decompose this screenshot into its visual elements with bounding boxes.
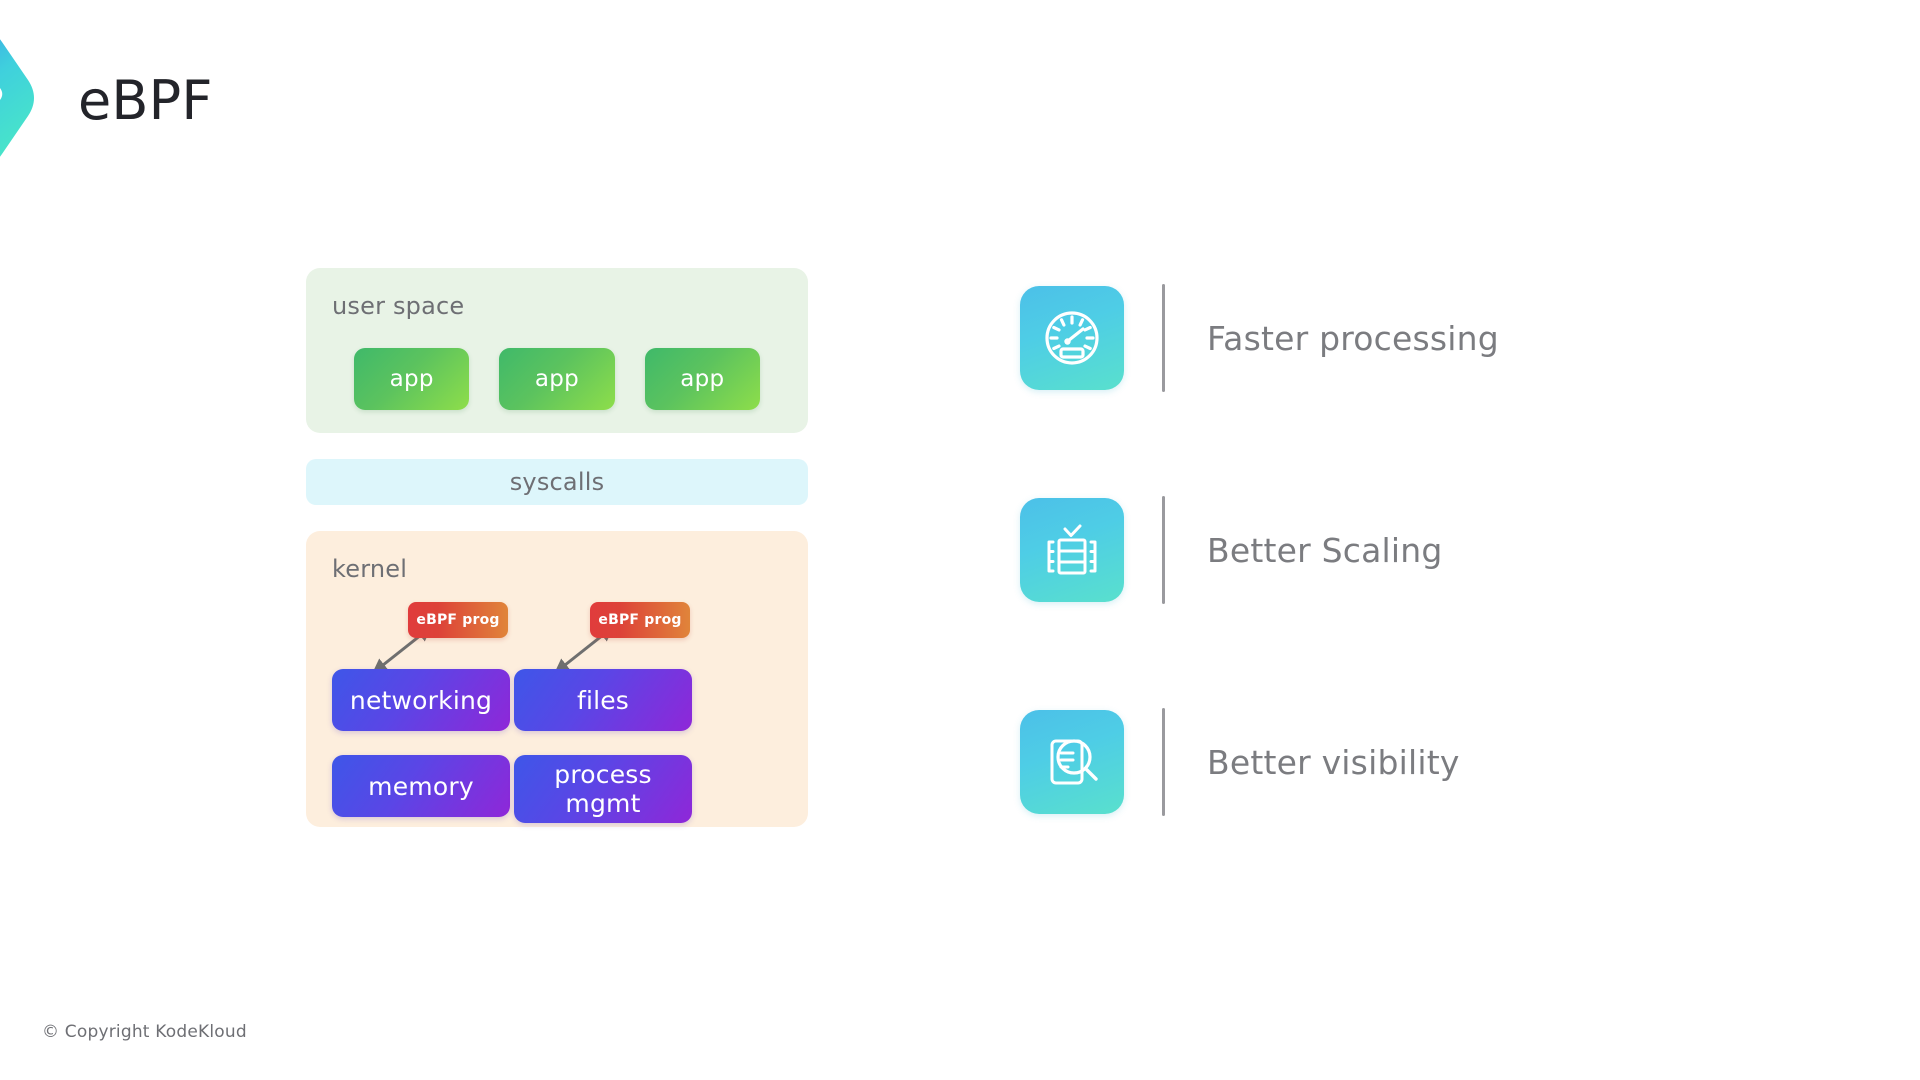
syscalls-bar: syscalls (306, 459, 808, 505)
chevron-logo-icon (0, 18, 62, 178)
app-box[interactable]: app (499, 348, 614, 410)
benefit-item-better-scaling[interactable]: Better Scaling (1020, 496, 1720, 604)
footer-copyright: © Copyright KodeKloud (42, 1022, 247, 1042)
benefit-item-faster-processing[interactable]: Faster processing (1020, 284, 1720, 392)
ebpf-prog-badge-networking[interactable]: eBPF prog (408, 602, 508, 638)
benefit-label-better-visibility: Better visibility (1207, 746, 1460, 779)
benefit-label-faster-processing: Faster processing (1207, 322, 1499, 355)
benefit-divider (1162, 708, 1165, 816)
kernel-box-process-mgmt-line1: process (554, 760, 651, 789)
user-space-app-list: app app app (332, 348, 782, 410)
ebpf-prog-badge-files[interactable]: eBPF prog (590, 602, 690, 638)
benefit-item-better-visibility[interactable]: Better visibility (1020, 708, 1720, 816)
speedometer-icon (1020, 286, 1124, 390)
benefit-divider (1162, 284, 1165, 392)
kernel-label: kernel (332, 557, 782, 581)
benefits-list: Faster processing Better Scalin (1020, 284, 1720, 816)
kernel-box-memory[interactable]: memory (332, 755, 510, 817)
kernel-box-files[interactable]: files (514, 669, 692, 731)
app-box[interactable]: app (645, 348, 760, 410)
benefit-label-better-scaling: Better Scaling (1207, 534, 1443, 567)
kernel-box-process-mgmt-line2: mgmt (565, 789, 640, 818)
user-space-zone: user space app app app (306, 268, 808, 433)
user-space-label: user space (332, 294, 782, 318)
ebpf-architecture-diagram: user space app app app syscalls kernel (306, 268, 808, 827)
page-title: eBPF (78, 74, 213, 128)
kernel-zone: kernel eBPF prog eBPF prog (306, 531, 808, 827)
server-stack-check-icon (1020, 498, 1124, 602)
kernel-box-networking[interactable]: networking (332, 669, 510, 731)
document-magnifier-icon (1020, 710, 1124, 814)
benefit-divider (1162, 496, 1165, 604)
kernel-subsystem-grid: eBPF prog eBPF prog networking files mem… (332, 591, 782, 817)
app-box[interactable]: app (354, 348, 469, 410)
kernel-box-process-mgmt[interactable]: process mgmt (514, 755, 692, 823)
